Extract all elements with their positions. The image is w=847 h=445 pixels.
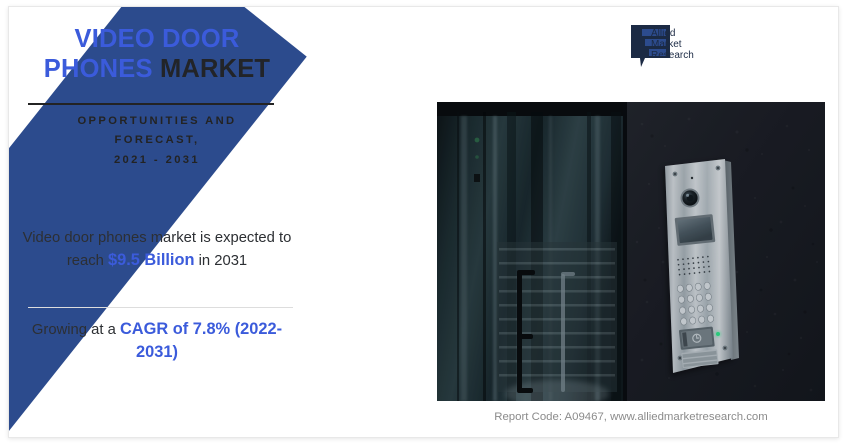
cagr-statement: Growing at a CAGR of 7.8% (2022-2031)	[21, 318, 293, 365]
title-highlight-line1: VIDEO DOOR	[75, 25, 240, 53]
cagr-value: CAGR of 7.8% (2022-2031)	[120, 320, 282, 361]
market-value-statement: Video door phones market is expected to …	[21, 228, 293, 272]
subtitle-line-3: 2021 - 2031	[114, 154, 200, 166]
left-content-column: VIDEO DOOR PHONES MARKET OPPORTUNITIES A…	[9, 7, 305, 437]
allied-market-research-logo: Allied Market Research	[628, 23, 720, 71]
title-highlight-line2: PHONES	[44, 55, 153, 83]
title-plain: MARKET	[153, 55, 271, 83]
logo-line-3: Research	[651, 50, 694, 61]
section-divider	[28, 307, 293, 308]
product-photo	[437, 102, 825, 401]
subtitle-line-2: FORECAST,	[115, 134, 200, 146]
stat-value: $9.5 Billion	[108, 251, 195, 269]
subtitle-line-1: OPPORTUNITIES AND	[77, 115, 236, 127]
infographic-card: Allied Market Research VIDEO DOOR PHONES…	[8, 6, 839, 438]
page-title: VIDEO DOOR PHONES MARKET	[19, 24, 295, 84]
stat-suffix: in 2031	[195, 253, 248, 269]
report-caption: Report Code: A09467, www.alliedmarketres…	[437, 411, 825, 423]
logo-line-1: Allied	[651, 28, 675, 39]
title-divider	[28, 103, 274, 105]
cagr-prefix: Growing at a	[32, 322, 120, 338]
subtitle: OPPORTUNITIES AND FORECAST, 2021 - 2031	[23, 112, 291, 170]
logo-line-2: Market	[651, 39, 682, 50]
